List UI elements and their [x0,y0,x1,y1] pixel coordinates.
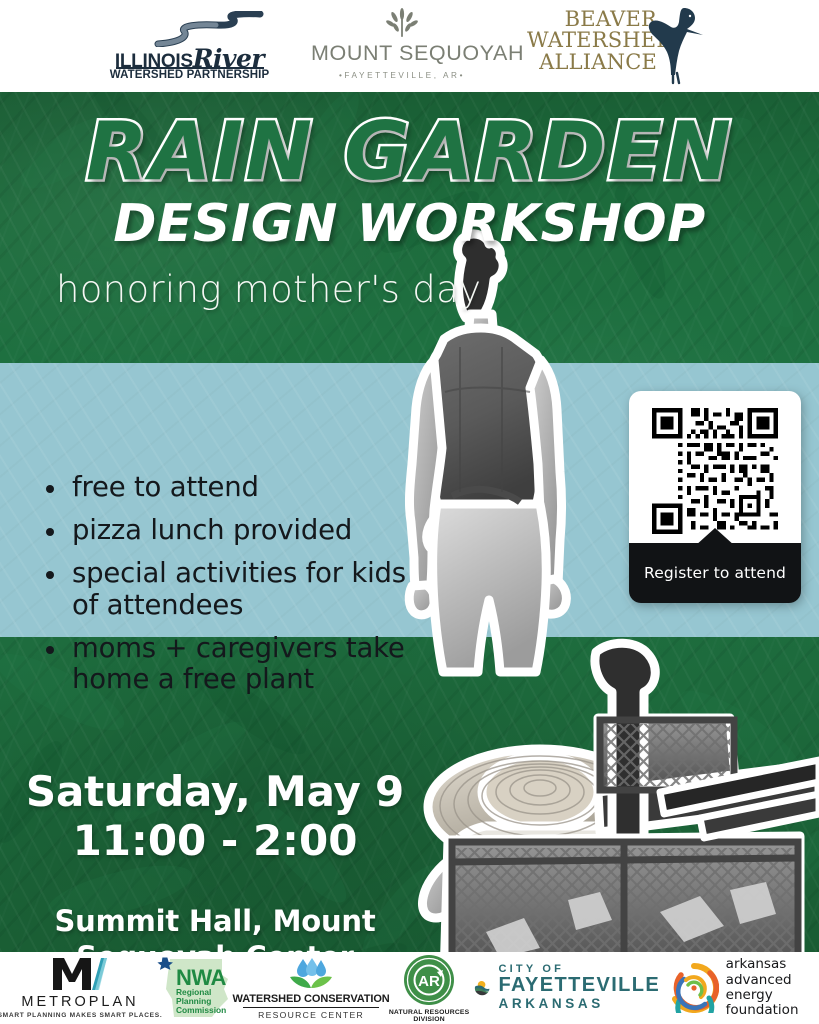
wcrc-line2: RESOURCE CENTER [258,1010,364,1020]
bullet-dot-icon [46,485,54,493]
svg-text:Commission: Commission [176,1005,226,1015]
logo-mount-sequoyah: MOUNT SEQUOYAH •FAYETTEVILLE, AR• [311,8,493,84]
poster-title: RAIN GARDEN [0,112,819,192]
logo-arkansas-advanced-energy-foundation: arkansas advanced energy foundation [660,957,807,1019]
list-item: pizza lunch provided [38,515,440,547]
metroplan-tagline: SMART PLANNING MAKES SMART PLACES. [0,1012,162,1019]
aaef-line4: foundation [726,1003,799,1018]
logo-illinois-river-watershed-partnership: ILLINOISRiver WATERSHED PARTNERSHIP [102,9,277,83]
bwa-wordmark: BEAVER WATERSHED ALLIANCE [527,9,657,73]
cart-frame-bars [452,720,798,952]
event-venue: Summit Hall, Mount Sequoyah Center [0,904,430,952]
list-item-label: pizza lunch provided [72,514,352,546]
logo-metroplan: METROPLAN SMART PLANNING MAKES SMART PLA… [12,957,148,1019]
poster-tagline: honoring mother's day [0,268,819,311]
qr-label-bar[interactable]: Register to attend [629,543,801,603]
logo-watershed-conservation-resource-center: WATERSHED CONSERVATION RESOURCE CENTER [238,957,384,1020]
nwa-logo-graphic: NWA Regional Planning Commission [150,955,236,1021]
event-venue-line1: Summit Hall, Mount [0,904,430,940]
cart-contents [486,882,776,952]
qr-code-icon[interactable] [648,408,782,534]
fayetteville-line3: ARKANSAS [499,996,661,1012]
qr-register-card[interactable]: Register to attend [629,391,801,603]
logo-arkansas-natural-resources-division: AR NATURAL RESOURCES DIVISION [384,954,474,1023]
fayetteville-hills-sun-icon [474,962,490,1014]
logo-city-of-fayetteville: CITY OF FAYETTEVILLE ARKANSAS [474,962,660,1014]
energy-swirl-icon [669,963,719,1013]
ar-seal-icon: AR [403,954,455,1006]
anrd-line1: NATURAL RESOURCES [389,1009,470,1016]
highlights-list: free to attend pizza lunch provided spec… [0,472,440,707]
event-date: Saturday, May 9 [0,768,430,815]
list-item-label: moms + caregivers take home a free plant [72,632,405,696]
aaef-line3: energy [726,988,799,1003]
bullet-dot-icon [46,646,54,654]
list-item: moms + caregivers take home a free plant [38,633,440,697]
sponsor-logo-bar: METROPLAN SMART PLANNING MAKES SMART PLA… [0,952,819,1024]
photo-child-straw-hat [423,749,701,928]
event-details: Saturday, May 9 11:00 - 2:00 Summit Hall… [0,768,430,952]
mount-sequoyah-wordmark: MOUNT SEQUOYAH [311,41,493,66]
title-block: RAIN GARDEN DESIGN WORKSHOP honoring mot… [0,112,819,311]
cart-mesh-pattern [455,724,795,952]
logo-nwa-regional-planning-commission: NWA Regional Planning Commission [148,955,238,1021]
qr-label-text: Register to attend [644,564,786,582]
aaef-line1: arkansas [726,957,799,972]
aaef-line2: advanced [726,973,799,988]
event-venue-line2: Sequoyah Center [0,940,430,952]
list-item-label: special activities for kids of attendees [72,557,406,621]
bwa-line3: ALLIANCE [527,52,657,73]
list-item: free to attend [38,472,440,504]
wcrc-line1: WATERSHED CONSERVATION [233,993,390,1005]
bwa-line1: BEAVER [527,9,657,30]
photo-garden-cart [444,643,819,952]
poster-subtitle: DESIGN WORKSHOP [0,198,819,250]
river-squiggle-icon [154,11,264,47]
poster-body-background: RAIN GARDEN DESIGN WORKSHOP honoring mot… [0,92,819,952]
svg-text:AR: AR [418,973,440,990]
bullet-dot-icon [46,528,54,536]
mount-sequoyah-location: •FAYETTEVILLE, AR• [311,71,493,80]
hat-weave-texture [440,756,640,856]
fayetteville-wordmark: CITY OF FAYETTEVILLE ARKANSAS [499,963,661,1012]
list-item-label: free to attend [72,471,259,503]
aaef-wordmark: arkansas advanced energy foundation [726,957,799,1019]
arkansas-state-shape-icon: NWA Regional Planning Commission [150,955,236,1021]
metroplan-m-icon [51,957,109,991]
heron-bird-icon [643,5,705,85]
leaf-icon [385,8,419,38]
photo-garden-tools [660,760,819,838]
anrd-line2: DIVISION [413,1016,444,1023]
list-item: special activities for kids of attendees [38,558,440,622]
water-drops-leaves-icon [288,957,334,989]
header-logo-bar: ILLINOISRiver WATERSHED PARTNERSHIP MOUN… [0,0,819,92]
event-time: 11:00 - 2:00 [0,815,430,866]
bwa-line2: WATERSHED [527,30,657,51]
irwp-subtitle: WATERSHED PARTNERSHIP [102,69,277,81]
bullet-dot-icon [46,571,54,579]
wcrc-divider [243,1007,379,1008]
poster-root: ILLINOISRiver WATERSHED PARTNERSHIP MOUN… [0,0,819,1024]
fayetteville-line2: FAYETTEVILLE [499,975,661,996]
logo-beaver-watershed-alliance: BEAVER WATERSHED ALLIANCE [527,5,717,87]
metroplan-wordmark: METROPLAN [21,994,138,1010]
